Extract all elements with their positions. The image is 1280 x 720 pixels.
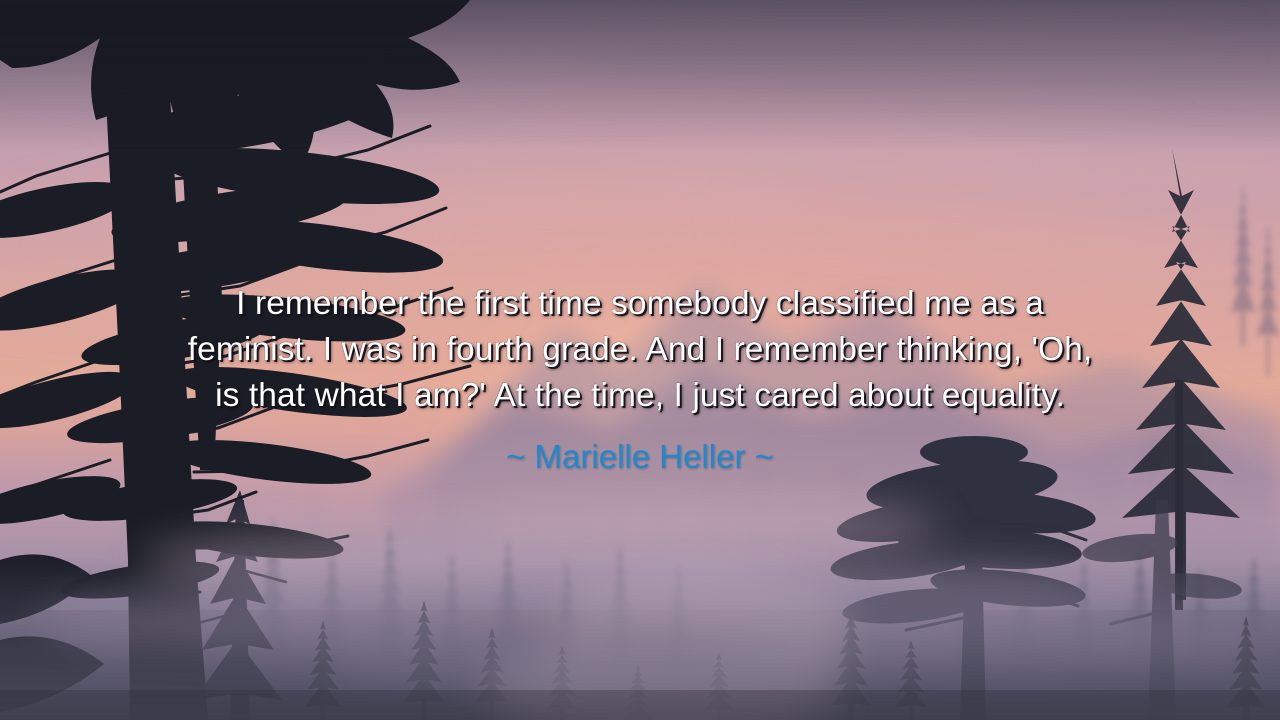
quote-card-image: I remember the first time somebody class… xyxy=(0,0,1280,720)
quote-text-block: I remember the first time somebody class… xyxy=(85,281,1195,419)
quote-line-3: is that what I am?' At the time, I just … xyxy=(85,373,1195,419)
quote-line-2: feminist. I was in fourth grade. And I r… xyxy=(85,327,1195,373)
quote-line-1: I remember the first time somebody class… xyxy=(85,281,1195,327)
author-attribution: ~ Marielle Heller ~ xyxy=(506,437,774,477)
text-overlay: I remember the first time somebody class… xyxy=(0,0,1280,720)
